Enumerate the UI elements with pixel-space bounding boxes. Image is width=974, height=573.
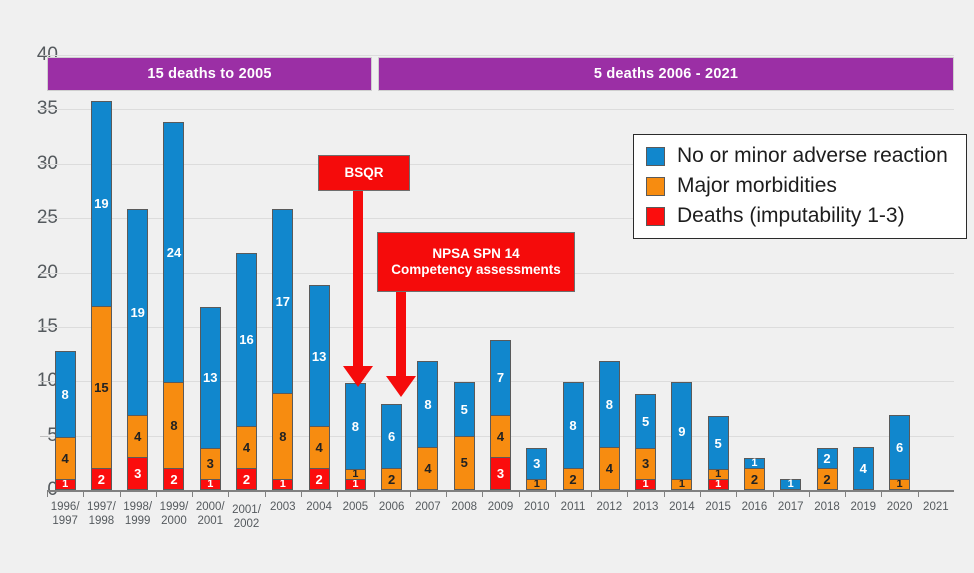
- bar-segment-orange[interactable]: 2: [563, 468, 584, 490]
- bar-value-label: 1: [352, 479, 358, 490]
- bar-value-label: 4: [315, 441, 322, 454]
- bar-value-label: 8: [352, 420, 359, 433]
- bar-value-label: 1: [788, 479, 794, 490]
- bar-segment-red[interactable]: 3: [127, 457, 148, 490]
- bar-value-label: 13: [312, 350, 326, 363]
- bar-segment-orange[interactable]: 8: [163, 382, 184, 469]
- bar-segment-red[interactable]: 2: [163, 468, 184, 490]
- bar-segment-orange[interactable]: 1: [671, 479, 692, 490]
- bar-stack[interactable]: 1: [780, 480, 801, 490]
- x-tick: [555, 490, 556, 497]
- legend-item: Deaths (imputability 1-3): [646, 201, 956, 231]
- bar-value-label: 5: [461, 403, 468, 416]
- bar-value-label: 15: [94, 381, 108, 394]
- bar-value-label: 7: [497, 371, 504, 384]
- bar-value-label: 2: [751, 473, 758, 486]
- x-tick: [228, 490, 229, 497]
- bar-value-label: 4: [606, 462, 613, 475]
- bar-stack[interactable]: 21: [744, 459, 765, 490]
- bar-segment-orange[interactable]: 4: [599, 447, 620, 491]
- bar-value-label: 1: [715, 479, 721, 490]
- bar-segment-orange[interactable]: 5: [454, 436, 475, 490]
- x-tick: [120, 490, 121, 497]
- x-tick: [337, 490, 338, 497]
- bar-value-label: 3: [533, 457, 540, 470]
- bar-segment-orange[interactable]: 3: [200, 448, 221, 481]
- bar-value-label: 24: [167, 246, 181, 259]
- bar-segment-orange[interactable]: 15: [91, 306, 112, 469]
- bar-segment-orange[interactable]: 1: [526, 479, 547, 490]
- bar-segment-orange[interactable]: 4: [309, 426, 330, 470]
- legend-item: No or minor adverse reaction: [646, 141, 956, 171]
- bar-stack[interactable]: 13: [526, 449, 547, 491]
- bar-segment-blue[interactable]: 13: [309, 285, 330, 426]
- bar-stack[interactable]: 1313: [200, 308, 221, 490]
- bar-segment-blue[interactable]: 7: [490, 340, 511, 416]
- x-tick: [627, 490, 628, 497]
- bar-value-label: 5: [715, 437, 722, 450]
- bar-value-label: 19: [94, 197, 108, 210]
- bar-segment-red[interactable]: 2: [91, 468, 112, 490]
- bar-segment-blue[interactable]: 8: [417, 361, 438, 448]
- bar-segment-orange[interactable]: 2: [817, 468, 838, 490]
- bar-value-label: 2: [98, 473, 105, 486]
- bar-segment-orange[interactable]: 4: [236, 426, 257, 470]
- x-tick: [773, 490, 774, 497]
- bar-segment-blue[interactable]: 6: [381, 404, 402, 469]
- bar-segment-orange[interactable]: 4: [417, 447, 438, 491]
- bar-segment-red[interactable]: 1: [55, 479, 76, 490]
- legend-item: Major morbidities: [646, 171, 956, 201]
- legend-label: Major morbidities: [677, 174, 837, 198]
- bar-segment-blue[interactable]: 1: [780, 479, 801, 490]
- bar-segment-red[interactable]: 1: [708, 479, 729, 490]
- bar-value-label: 2: [823, 452, 830, 465]
- bar-value-label: 2: [315, 473, 322, 486]
- x-tick: [482, 490, 483, 497]
- x-tick: [664, 490, 665, 497]
- x-axis-line: [47, 490, 954, 492]
- bar-stack[interactable]: 3419: [127, 210, 148, 490]
- bar-value-label: 4: [860, 462, 867, 475]
- bar-value-label: 1: [897, 479, 903, 490]
- bsqr-annotation: BSQR: [318, 155, 410, 191]
- legend-swatch-orange-icon: [646, 177, 665, 196]
- bar-value-label: 4: [134, 430, 141, 443]
- bar-segment-orange[interactable]: 4: [55, 437, 76, 481]
- bar-stack[interactable]: 347: [490, 341, 511, 490]
- bar-value-label: 17: [276, 295, 290, 308]
- bar-value-label: 8: [424, 398, 431, 411]
- bar-segment-red[interactable]: 1: [272, 479, 293, 490]
- bar-value-label: 9: [678, 425, 685, 438]
- bar-segment-red[interactable]: 2: [236, 468, 257, 490]
- npsa-arrow-shaft: [396, 290, 406, 378]
- bar-segment-red[interactable]: 1: [200, 479, 221, 490]
- bar-value-label: 8: [279, 430, 286, 443]
- bar-value-label: 6: [896, 441, 903, 454]
- stacked-bar-chart: 0510152025303540 14821519341928241313241…: [0, 0, 974, 573]
- bar-value-label: 1: [62, 479, 68, 490]
- bar-stack[interactable]: 2824: [163, 123, 184, 490]
- x-tick: [591, 490, 592, 497]
- bar-value-label: 4: [424, 462, 431, 475]
- x-tick-label: 2021: [912, 500, 960, 514]
- bar-value-label: 1: [280, 479, 286, 490]
- bar-value-label: 2: [170, 473, 177, 486]
- x-tick: [156, 490, 157, 497]
- legend-label: Deaths (imputability 1-3): [677, 204, 905, 228]
- bar-segment-blue[interactable]: 5: [708, 416, 729, 470]
- bar-segment-orange[interactable]: 4: [127, 415, 148, 459]
- x-tick: [918, 490, 919, 497]
- bar-value-label: 4: [497, 430, 504, 443]
- x-tick: [700, 490, 701, 497]
- bar-segment-blue[interactable]: 13: [200, 307, 221, 448]
- x-tick: [809, 490, 810, 497]
- bar-value-label: 16: [239, 333, 253, 346]
- bar-value-label: 1: [207, 479, 213, 490]
- x-tick: [410, 490, 411, 497]
- bar-value-label: 5: [642, 415, 649, 428]
- bar-segment-orange[interactable]: 4: [490, 415, 511, 459]
- bar-stack[interactable]: 28: [563, 383, 584, 490]
- bar-segment-blue[interactable]: 19: [91, 101, 112, 308]
- bar-stack[interactable]: 55: [454, 383, 475, 490]
- npsa-arrow-head: [386, 376, 416, 397]
- bar-value-label: 1: [751, 458, 757, 469]
- bar-segment-blue[interactable]: 8: [599, 361, 620, 448]
- bar-value-label: 1: [643, 479, 649, 490]
- bar-stack[interactable]: 115: [708, 417, 729, 490]
- bar-segment-blue[interactable]: 4: [853, 447, 874, 491]
- bar-stack[interactable]: 2413: [309, 286, 330, 490]
- bar-stack[interactable]: 48: [417, 362, 438, 491]
- x-tick: [374, 490, 375, 497]
- bar-value-label: 2: [823, 473, 830, 486]
- x-tick: [881, 490, 882, 497]
- x-tick: [446, 490, 447, 497]
- bar-segment-orange[interactable]: 1: [889, 479, 910, 490]
- bsqr-arrow-head: [343, 366, 373, 387]
- bar-value-label: 8: [170, 419, 177, 432]
- bar-segment-blue[interactable]: 3: [526, 448, 547, 481]
- bar-segment-blue[interactable]: 8: [55, 351, 76, 438]
- bar-segment-red[interactable]: 1: [345, 479, 366, 490]
- bar-value-label: 1: [679, 479, 685, 490]
- bar-value-label: 3: [642, 457, 649, 470]
- x-tick: [301, 490, 302, 497]
- x-tick: [47, 490, 48, 497]
- bar-value-label: 2: [569, 473, 576, 486]
- bar-segment-blue[interactable]: 9: [671, 382, 692, 480]
- x-tick: [83, 490, 84, 497]
- x-tick: [265, 490, 266, 497]
- bar-value-label: 3: [497, 467, 504, 480]
- bar-segment-orange[interactable]: 8: [272, 393, 293, 480]
- bar-value-label: 1: [352, 469, 358, 480]
- bar-segment-blue[interactable]: 1: [744, 458, 765, 469]
- bar-stack[interactable]: 26: [381, 405, 402, 490]
- bar-segment-orange[interactable]: 1: [708, 469, 729, 480]
- bar-stack[interactable]: 4: [853, 448, 874, 491]
- bar-segment-orange[interactable]: 1: [345, 469, 366, 480]
- legend-label: No or minor adverse reaction: [677, 144, 948, 168]
- bar-stack[interactable]: 21519: [91, 102, 112, 491]
- bar-value-label: 8: [606, 398, 613, 411]
- bar-segment-red[interactable]: 3: [490, 457, 511, 490]
- bar-segment-blue[interactable]: 8: [345, 383, 366, 470]
- bar-segment-red[interactable]: 2: [309, 468, 330, 490]
- bar-value-label: 19: [130, 306, 144, 319]
- banner-deaths-2006-2021: 5 deaths 2006 - 2021: [378, 57, 954, 91]
- bar-value-label: 2: [388, 473, 395, 486]
- bar-stack[interactable]: 22: [817, 449, 838, 491]
- legend-swatch-red-icon: [646, 207, 665, 226]
- bar-stack[interactable]: 1817: [272, 210, 293, 490]
- x-tick: [192, 490, 193, 497]
- bar-stack[interactable]: 118: [345, 384, 366, 490]
- bar-segment-blue[interactable]: 2: [817, 448, 838, 470]
- bar-value-label: 4: [243, 441, 250, 454]
- bar-segment-red[interactable]: 1: [635, 479, 656, 490]
- bar-value-label: 3: [134, 467, 141, 480]
- bar-segment-orange[interactable]: 2: [744, 468, 765, 490]
- banner-deaths-to-2005: 15 deaths to 2005: [47, 57, 372, 91]
- bar-stack[interactable]: 19: [671, 383, 692, 490]
- bar-segment-blue[interactable]: 5: [635, 394, 656, 448]
- bar-value-label: 2: [243, 473, 250, 486]
- bar-value-label: 5: [461, 456, 468, 469]
- bar-stack[interactable]: 135: [635, 395, 656, 490]
- bar-stack[interactable]: 48: [599, 362, 620, 491]
- x-tick: [845, 490, 846, 497]
- bar-value-label: 13: [203, 371, 217, 384]
- x-tick: [519, 490, 520, 497]
- bar-stack[interactable]: 16: [889, 416, 910, 490]
- npsa-annotation: NPSA SPN 14 Competency assessments: [377, 232, 575, 292]
- bar-stack[interactable]: 148: [55, 352, 76, 490]
- legend-swatch-blue-icon: [646, 147, 665, 166]
- bar-segment-blue[interactable]: 16: [236, 253, 257, 427]
- bar-value-label: 1: [715, 469, 721, 480]
- bsqr-arrow-shaft: [353, 186, 363, 368]
- bar-segment-blue[interactable]: 17: [272, 209, 293, 394]
- x-tick: [736, 490, 737, 497]
- bar-segment-orange[interactable]: 3: [635, 448, 656, 481]
- bar-segment-blue[interactable]: 19: [127, 209, 148, 416]
- bar-segment-blue[interactable]: 24: [163, 122, 184, 383]
- bar-value-label: 8: [62, 388, 69, 401]
- bar-segment-blue[interactable]: 8: [563, 382, 584, 469]
- bar-segment-blue[interactable]: 5: [454, 382, 475, 436]
- legend: No or minor adverse reaction Major morbi…: [633, 134, 967, 239]
- bar-value-label: 8: [569, 419, 576, 432]
- bar-segment-blue[interactable]: 6: [889, 415, 910, 480]
- bar-value-label: 1: [534, 479, 540, 490]
- bar-value-label: 3: [207, 457, 214, 470]
- bar-segment-orange[interactable]: 2: [381, 468, 402, 490]
- bar-stack[interactable]: 2416: [236, 254, 257, 490]
- bar-value-label: 6: [388, 430, 395, 443]
- bar-value-label: 4: [62, 452, 69, 465]
